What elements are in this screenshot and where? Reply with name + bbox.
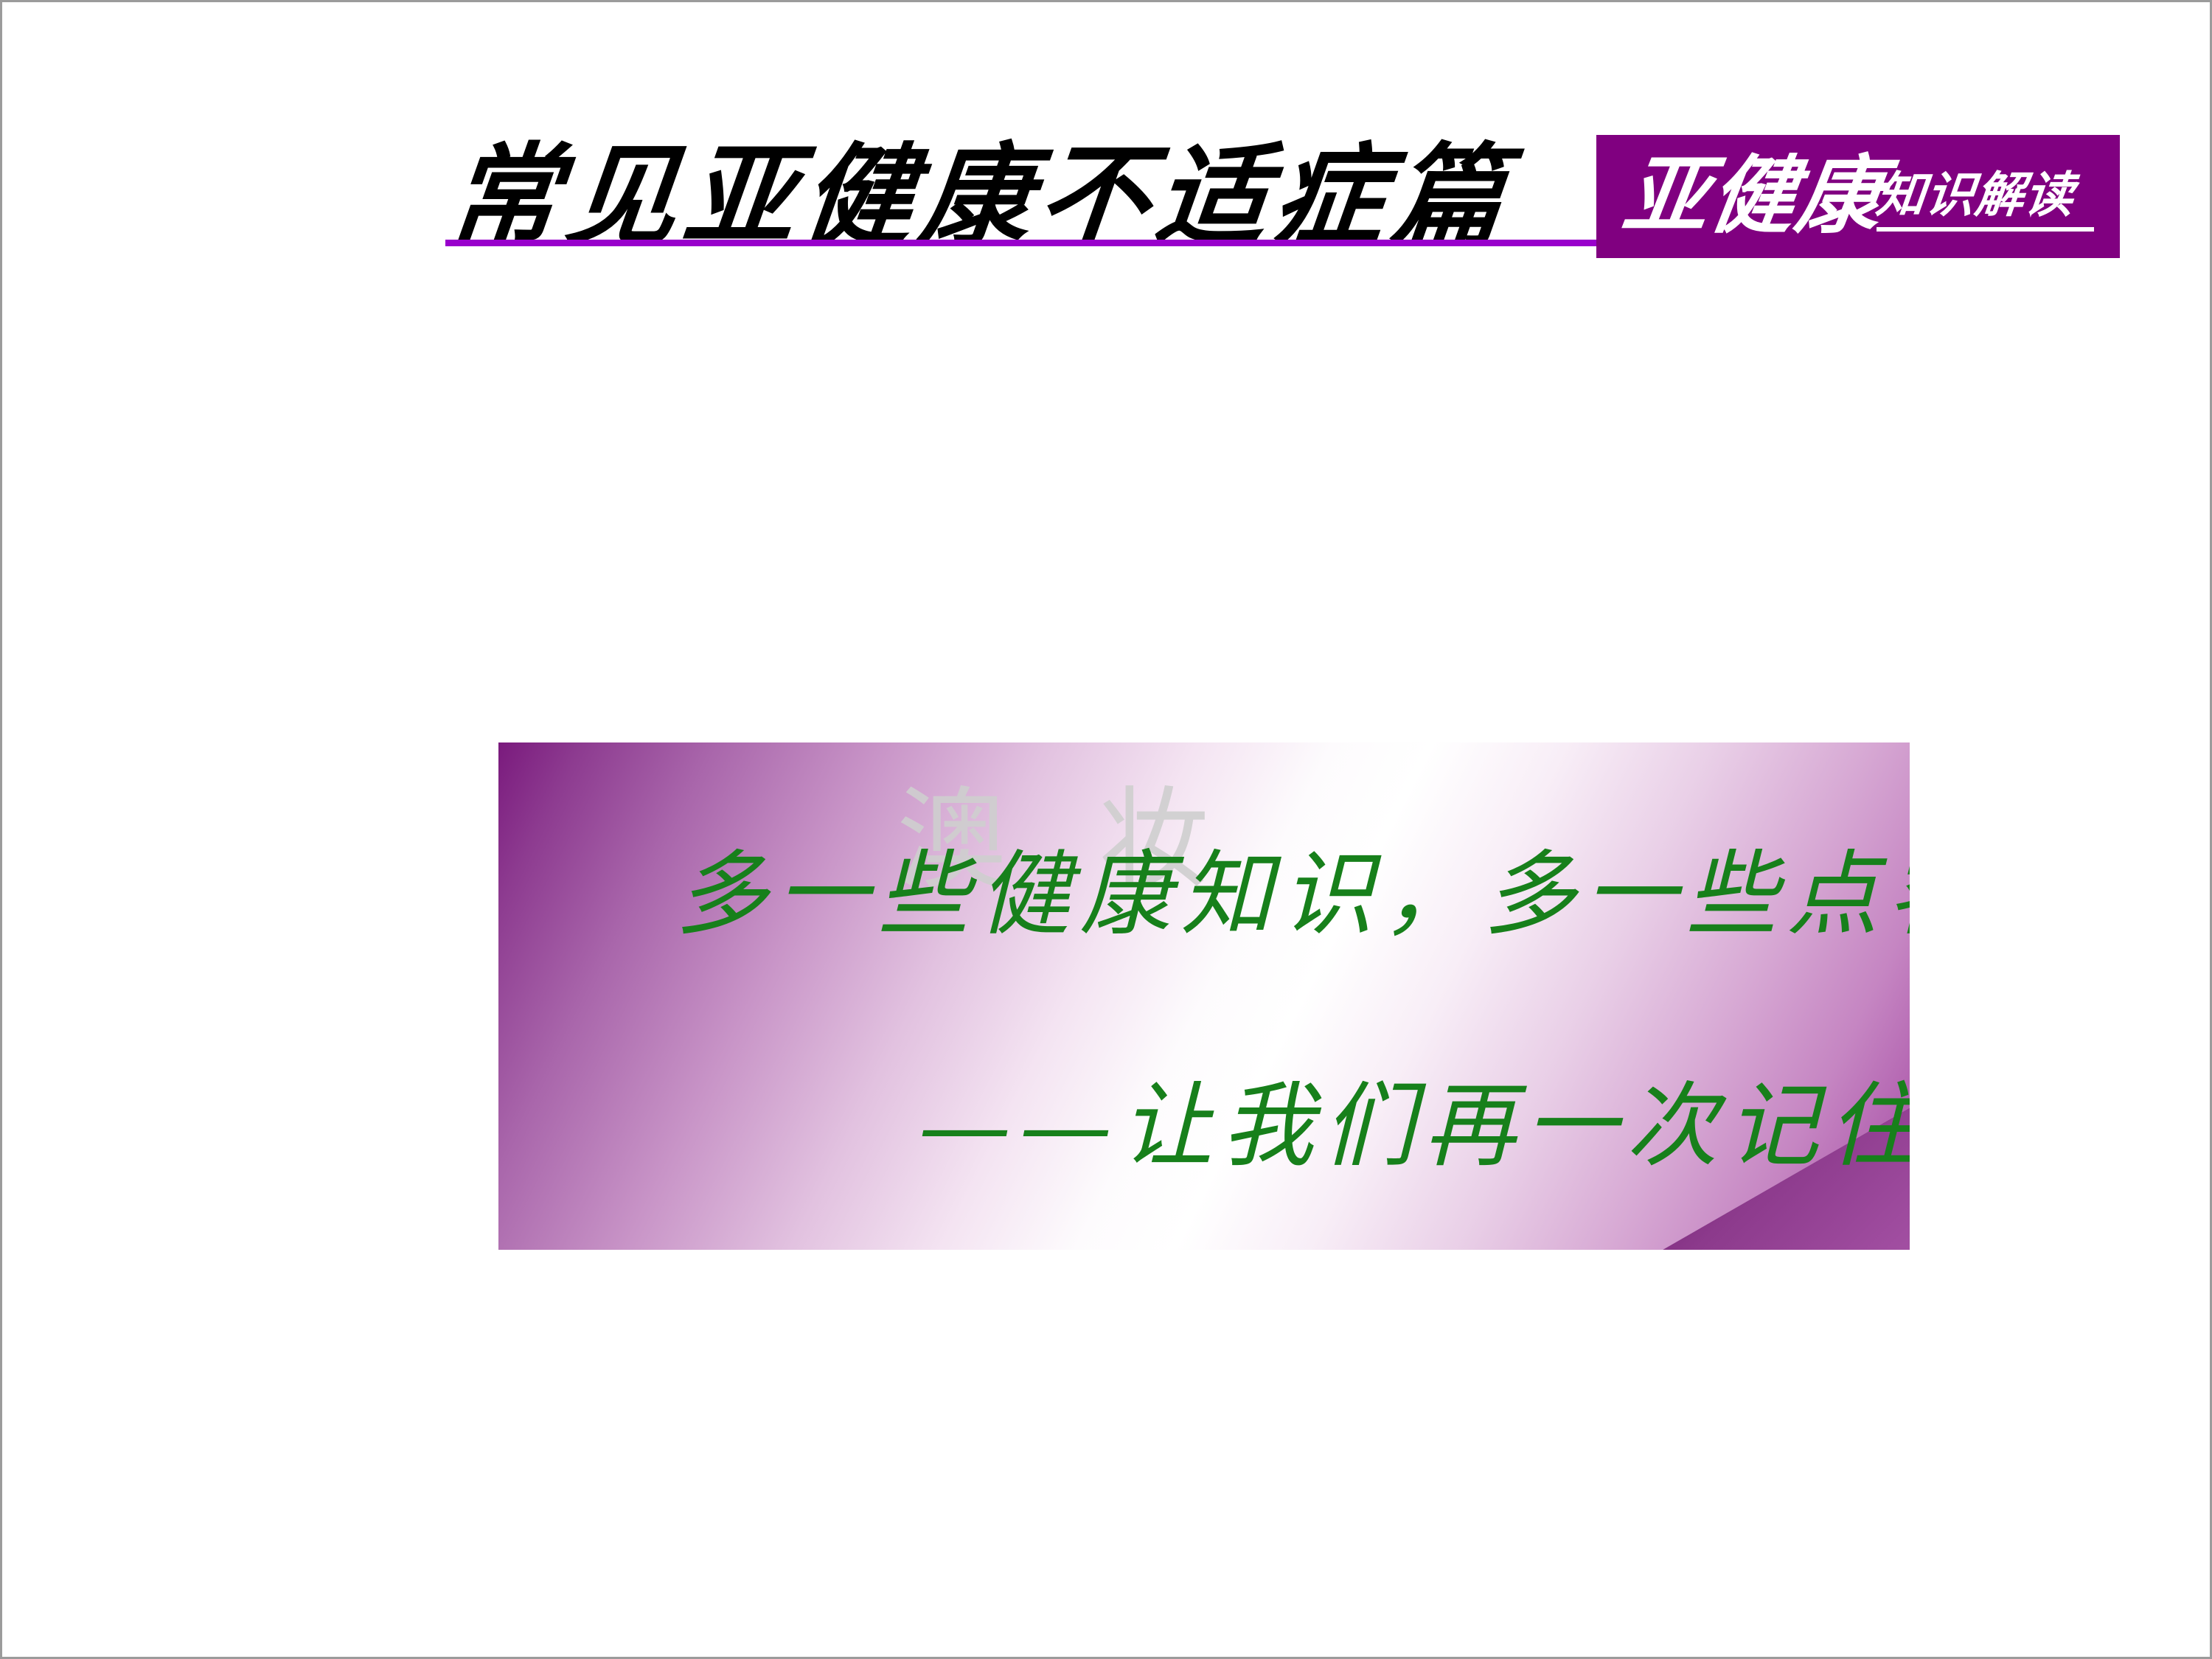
brand-badge-sub-label: 知识解读 bbox=[1874, 166, 2101, 223]
title-underline-rule bbox=[445, 240, 1598, 246]
brand-badge: 亚健康 知识解读 bbox=[1596, 135, 2120, 258]
quote-line-attribution: ——让我们再一次记住 bbox=[919, 1064, 1910, 1189]
slide-canvas: 常见亚健康不适症篇 亚健康 知识解读 澳 妆 多一些健康知识，多一些点客。 ——… bbox=[0, 0, 2212, 1659]
quote-line-primary: 多一些健康知识，多一些点客。 bbox=[675, 832, 1910, 958]
quote-panel: 澳 妆 多一些健康知识，多一些点客。 ——让我们再一次记住 bbox=[498, 742, 1910, 1250]
brand-badge-sub-group: 知识解读 bbox=[1877, 166, 2098, 232]
brand-badge-main-label: 亚健康 bbox=[1616, 141, 1891, 251]
brand-badge-sub-underline bbox=[1877, 227, 2094, 232]
